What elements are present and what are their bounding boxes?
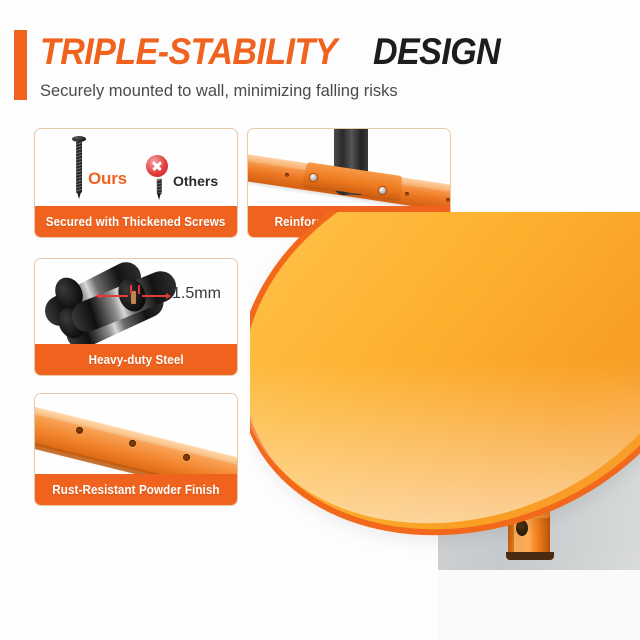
bar-hole (285, 173, 289, 177)
card-steel-label-text: Heavy-duty Steel (88, 353, 183, 367)
feature-card-powder-finish: Rust-Resistant Powder Finish (34, 393, 238, 506)
screw-threads (75, 141, 83, 193)
title-rest: DESIGN (373, 28, 500, 76)
others-label: Others (173, 173, 218, 189)
bar-hole (183, 454, 190, 461)
card-steel-photo: 1.5mm (35, 259, 237, 345)
plate-screw (310, 174, 317, 181)
plate-screw (379, 187, 386, 194)
bar-hole (405, 192, 409, 196)
infographic-canvas: TRIPLE-STABILITYDESIGN Securely mounted … (0, 0, 640, 640)
dimension-arrow-right-icon (142, 295, 170, 297)
card-screws-label: Secured with Thickened Screws (35, 206, 237, 237)
header: TRIPLE-STABILITYDESIGN Securely mounted … (0, 0, 640, 118)
card-powder-label-text: Rust-Resistant Powder Finish (52, 483, 219, 497)
long-screw-icon (71, 136, 87, 200)
bar-hole (76, 427, 83, 434)
card-screws-label-text: Secured with Thickened Screws (46, 215, 226, 229)
dimension-arrow-left-icon (97, 295, 128, 297)
card-screws-photo: Ours Others (35, 129, 237, 207)
card-reinforced-photo (248, 129, 450, 207)
page-subtitle: Securely mounted to wall, minimizing fal… (40, 80, 600, 102)
powder-coated-bar (35, 412, 237, 475)
red-x-badge-icon (146, 155, 168, 177)
ours-label: Ours (88, 169, 127, 189)
card-powder-photo (35, 394, 237, 475)
rack-post-foot (506, 552, 554, 560)
bar-hole (129, 440, 136, 447)
feature-card-steel: 1.5mm Heavy-duty Steel (34, 258, 238, 376)
title-highlight: TRIPLE-STABILITY (40, 28, 337, 76)
dimension-tick (130, 285, 132, 294)
floor-backdrop (438, 570, 640, 640)
product-photo (250, 212, 640, 640)
header-accent-bar (14, 30, 27, 100)
card-steel-label: Heavy-duty Steel (35, 344, 237, 375)
screw-tip (77, 192, 81, 199)
feature-card-screws: Ours Others Secured with Thickened Screw… (34, 128, 238, 238)
page-title: TRIPLE-STABILITYDESIGN (40, 28, 600, 76)
dimension-label: 1.5mm (172, 285, 221, 303)
dimension-tick (138, 285, 140, 294)
bar-hole (446, 198, 450, 202)
card-powder-label: Rust-Resistant Powder Finish (35, 474, 237, 505)
screw-tip (157, 193, 161, 200)
tube-wall-thickness (131, 291, 136, 304)
